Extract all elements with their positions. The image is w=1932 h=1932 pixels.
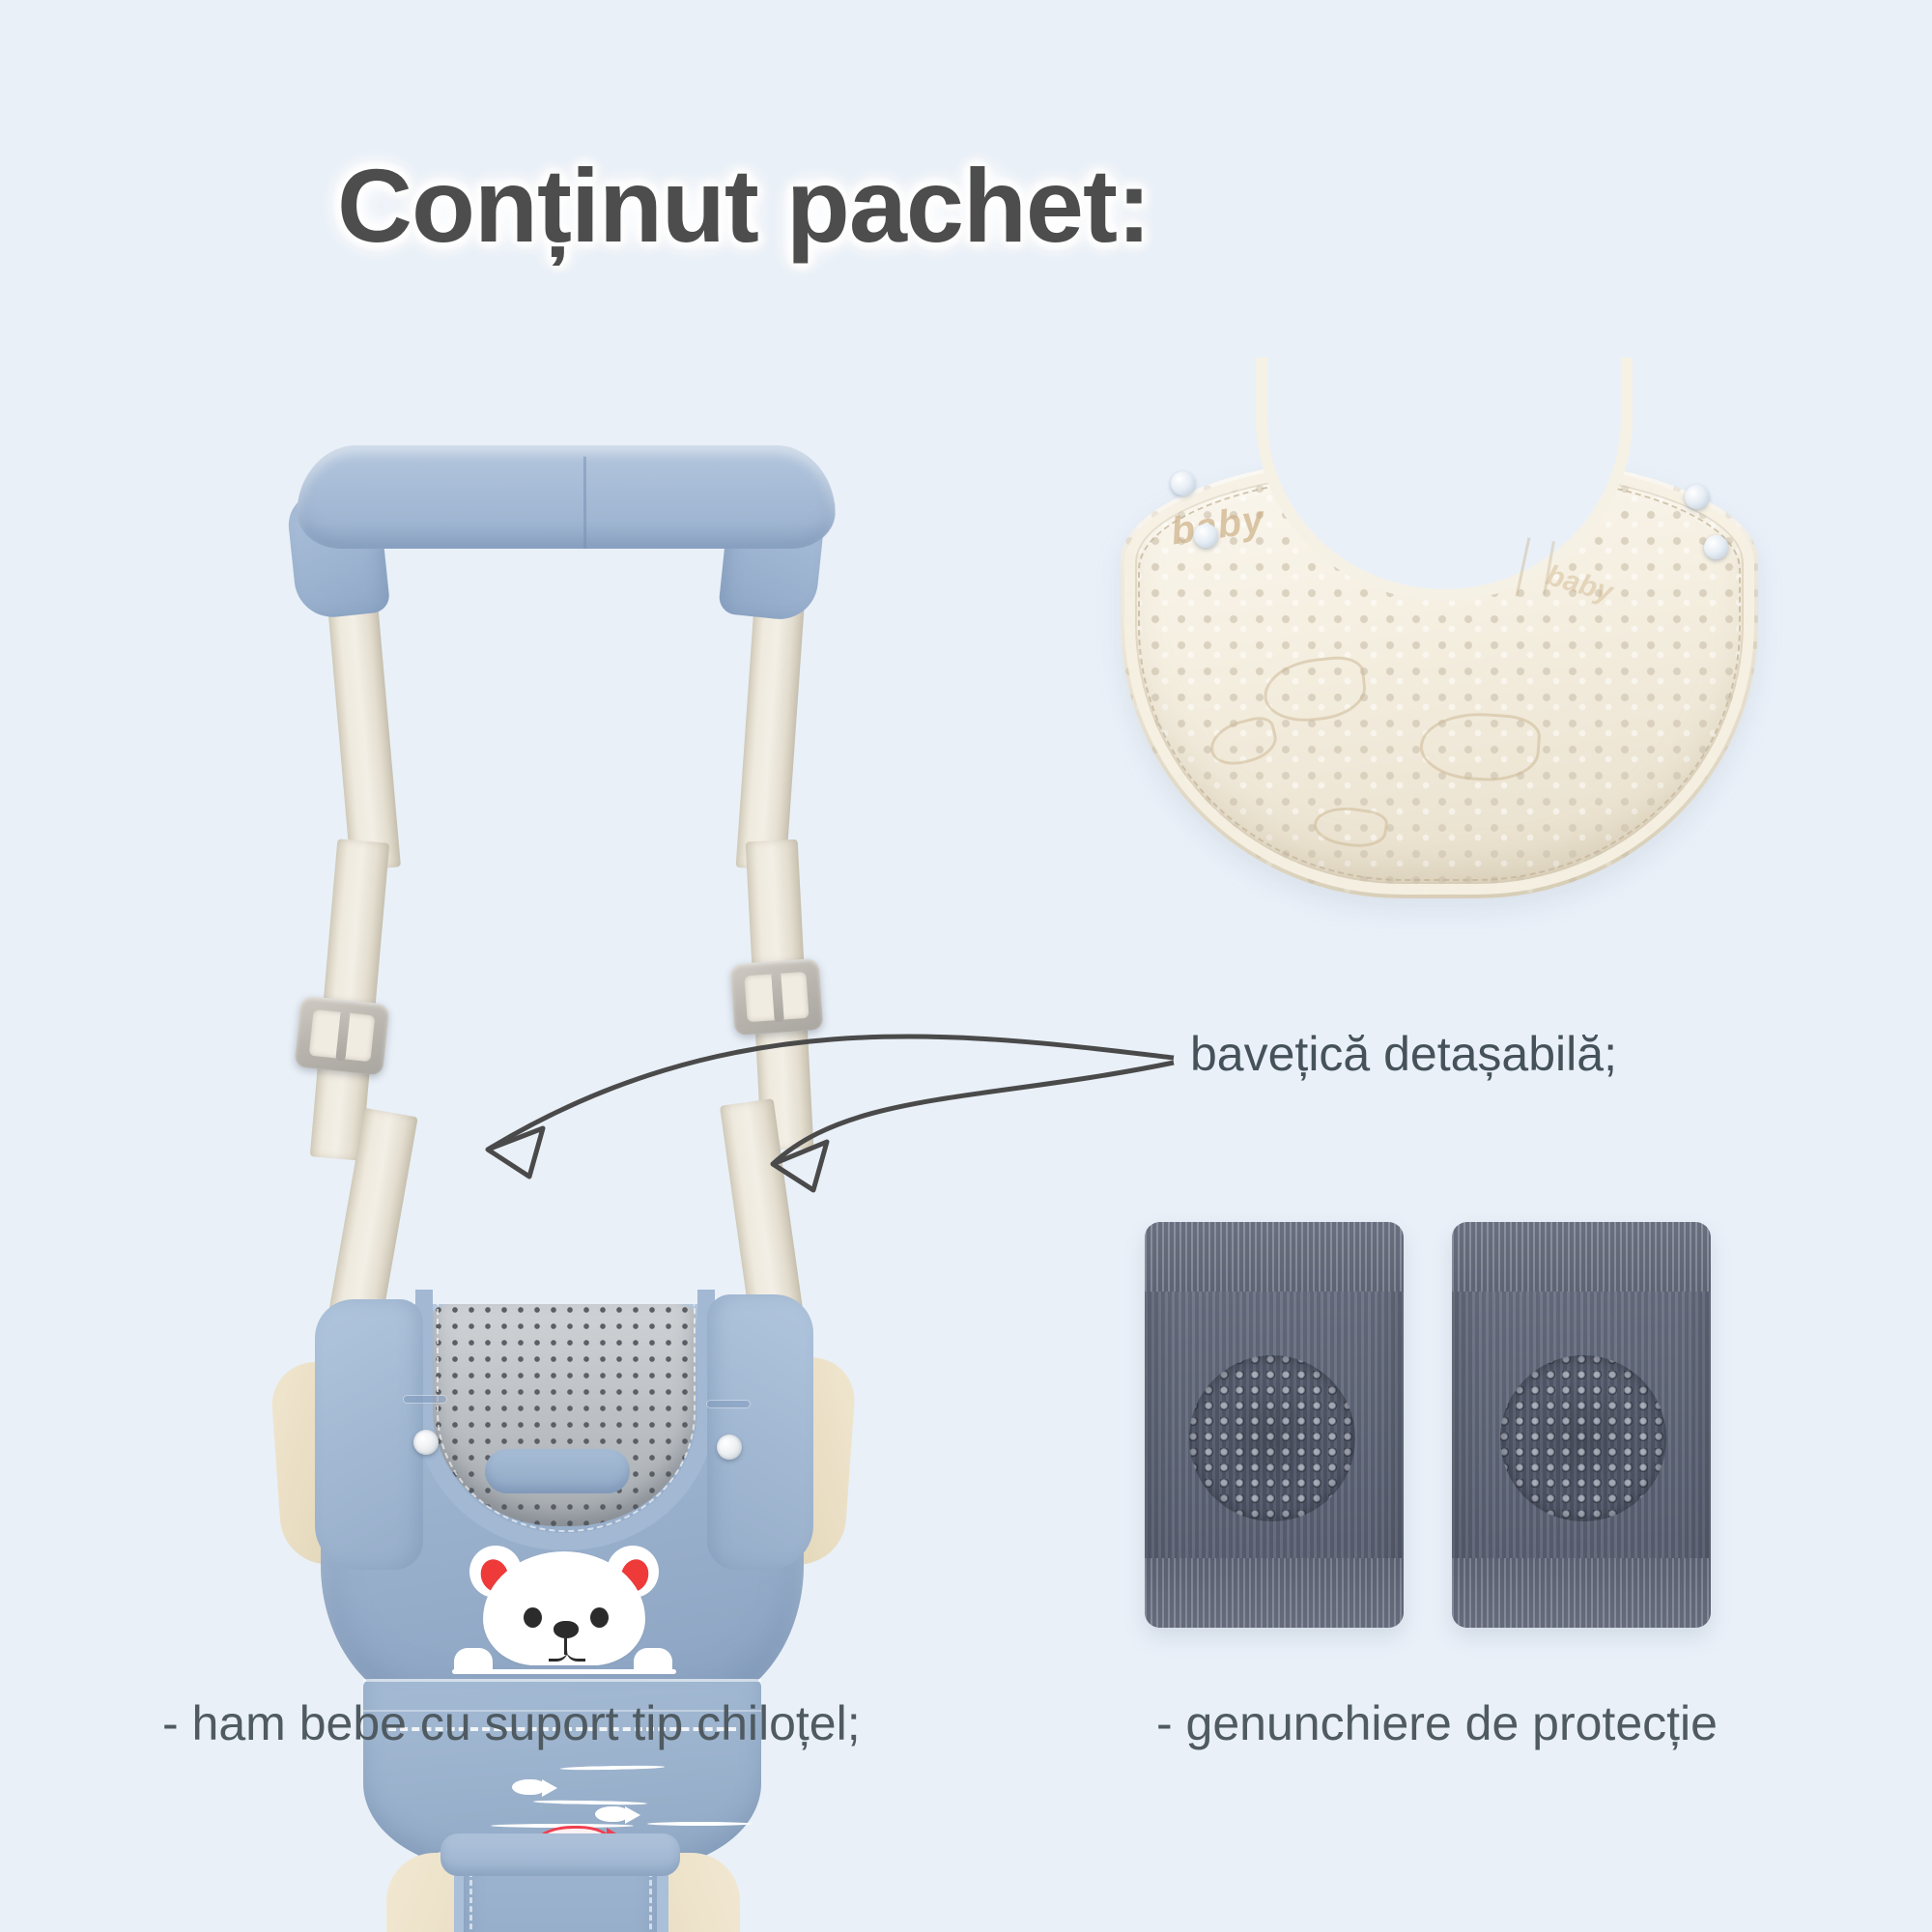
bear-eye-left <box>524 1607 542 1628</box>
caption-harness: - ham bebe cu suport tip chiloțel; <box>162 1695 861 1751</box>
knee-pad-left-cuff-top <box>1145 1222 1404 1292</box>
bear-eye-right <box>590 1607 609 1628</box>
infographic-canvas: Conținut pachet: <box>0 0 1932 1932</box>
bear-paw-left <box>454 1648 493 1671</box>
white-fish-tail <box>625 1806 640 1824</box>
harness-shoulder-right <box>707 1294 813 1570</box>
harness-snap-button-left <box>413 1430 439 1455</box>
handle-seam <box>583 457 586 549</box>
caption-knee-pads: - genunchiere de protecție <box>1156 1695 1718 1751</box>
white-fish-icon <box>595 1806 628 1822</box>
harness-buckle-left <box>294 995 389 1075</box>
knee-pad-right-cuff-bottom <box>1452 1558 1711 1628</box>
knee-pad-right-grip-dots <box>1500 1355 1666 1521</box>
bib-snap-button <box>1704 535 1728 559</box>
harness-strap-slot-right <box>707 1401 750 1407</box>
knee-pad-left-grip-dots <box>1189 1355 1355 1521</box>
harness-snap-button-right <box>717 1435 742 1460</box>
white-fish-tail <box>542 1779 557 1797</box>
bib-snap-button <box>1171 471 1195 496</box>
product-baby-walking-harness <box>270 435 869 1700</box>
bear-nose <box>554 1621 579 1638</box>
product-detachable-bib: baby baby <box>1121 454 1758 937</box>
callout-label-bib: bavețică detașabilă; <box>1190 1026 1617 1082</box>
knee-pad-left-cuff-bottom <box>1145 1558 1404 1628</box>
bear-waterline <box>452 1669 676 1674</box>
water-wave-line <box>647 1822 752 1826</box>
harness-strap-right-upper <box>736 579 807 871</box>
harness-strap-left-upper <box>326 578 401 870</box>
white-fish-icon <box>512 1779 545 1795</box>
harness-strap-slot-left <box>404 1396 446 1403</box>
harness-waist-flap <box>440 1833 680 1876</box>
bib-snap-button <box>1194 524 1218 548</box>
polar-bear-graphic <box>452 1551 676 1675</box>
knee-pad-right-cuff-top <box>1452 1222 1711 1292</box>
harness-buckle-right <box>730 958 824 1036</box>
harness-shoulder-left <box>315 1299 423 1570</box>
bib-snap-button <box>1685 485 1709 509</box>
harness-padded-handle <box>296 445 838 549</box>
bear-paw-right <box>634 1648 672 1671</box>
page-title: Conținut pachet: <box>0 145 1488 266</box>
product-knee-pads <box>1145 1222 1724 1647</box>
